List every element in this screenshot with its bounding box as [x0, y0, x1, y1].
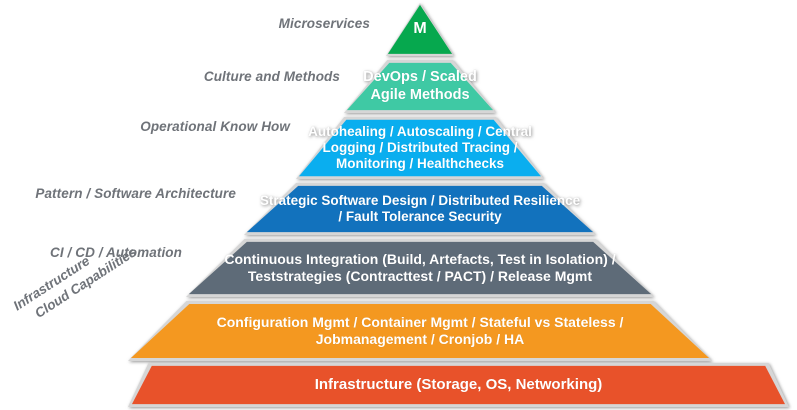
- pyramid-diagram: Microservices Culture and Methods Operat…: [0, 0, 797, 410]
- tier-label-line1: Continuous Integration (Build, Artefacts…: [224, 251, 615, 268]
- tier-label-line2: Logging / Distributed Tracing /: [308, 140, 532, 156]
- tier-label-cicd: Continuous Integration (Build, Artefacts…: [220, 251, 619, 284]
- pyramid-tier-software-architecture[interactable]: Strategic Software Design / Distributed …: [244, 183, 596, 235]
- tier-label-architecture: Strategic Software Design / Distributed …: [256, 193, 584, 225]
- side-label-pattern-software-architecture: Pattern / Software Architecture: [0, 186, 236, 201]
- tier-label-line2: / Fault Tolerance Security: [260, 209, 580, 225]
- tier-label-devops: DevOps / Scaled Agile Methods: [359, 69, 481, 103]
- tier-label-line2: Agile Methods: [363, 87, 477, 104]
- tier-label-microservices: M: [409, 20, 430, 39]
- pyramid-tier-infrastructure[interactable]: Infrastructure (Storage, OS, Networking): [128, 363, 789, 407]
- pyramid-tier-ci-cd-automation[interactable]: Continuous Integration (Build, Artefacts…: [186, 239, 654, 297]
- pyramid-tier-operational-know-how[interactable]: Autohealing / Autoscaling / Central Logg…: [296, 117, 544, 179]
- tier-label-line3: Monitoring / Healthchecks: [308, 156, 532, 172]
- pyramid-tier-cloud-capabilities[interactable]: Configuration Mgmt / Container Mgmt / St…: [128, 301, 712, 361]
- side-label-microservices: Microservices: [150, 16, 370, 31]
- pyramid-tier-devops-scaled-agile[interactable]: DevOps / Scaled Agile Methods: [344, 60, 496, 113]
- tier-label-line1: DevOps / Scaled: [363, 69, 477, 86]
- side-label-culture-and-methods: Culture and Methods: [100, 69, 340, 84]
- tier-label-line2: Teststrategies (Contracttest / PACT) / R…: [224, 268, 615, 285]
- tier-label-line1: Autohealing / Autoscaling / Central: [308, 124, 532, 140]
- tier-label-line1: Configuration Mgmt / Container Mgmt / St…: [217, 314, 624, 331]
- tier-label-cloud-capabilities: Configuration Mgmt / Container Mgmt / St…: [213, 314, 628, 347]
- pyramid-tier-microservices[interactable]: M: [386, 3, 454, 56]
- tier-label-line1: Strategic Software Design / Distributed …: [260, 193, 580, 209]
- side-label-operational-know-how: Operational Know How: [40, 119, 290, 134]
- tier-label-infrastructure: Infrastructure (Storage, OS, Networking): [311, 376, 607, 394]
- tier-label-line2: Jobmanagement / Cronjob / HA: [217, 331, 624, 348]
- tier-label-operational: Autohealing / Autoscaling / Central Logg…: [304, 124, 536, 172]
